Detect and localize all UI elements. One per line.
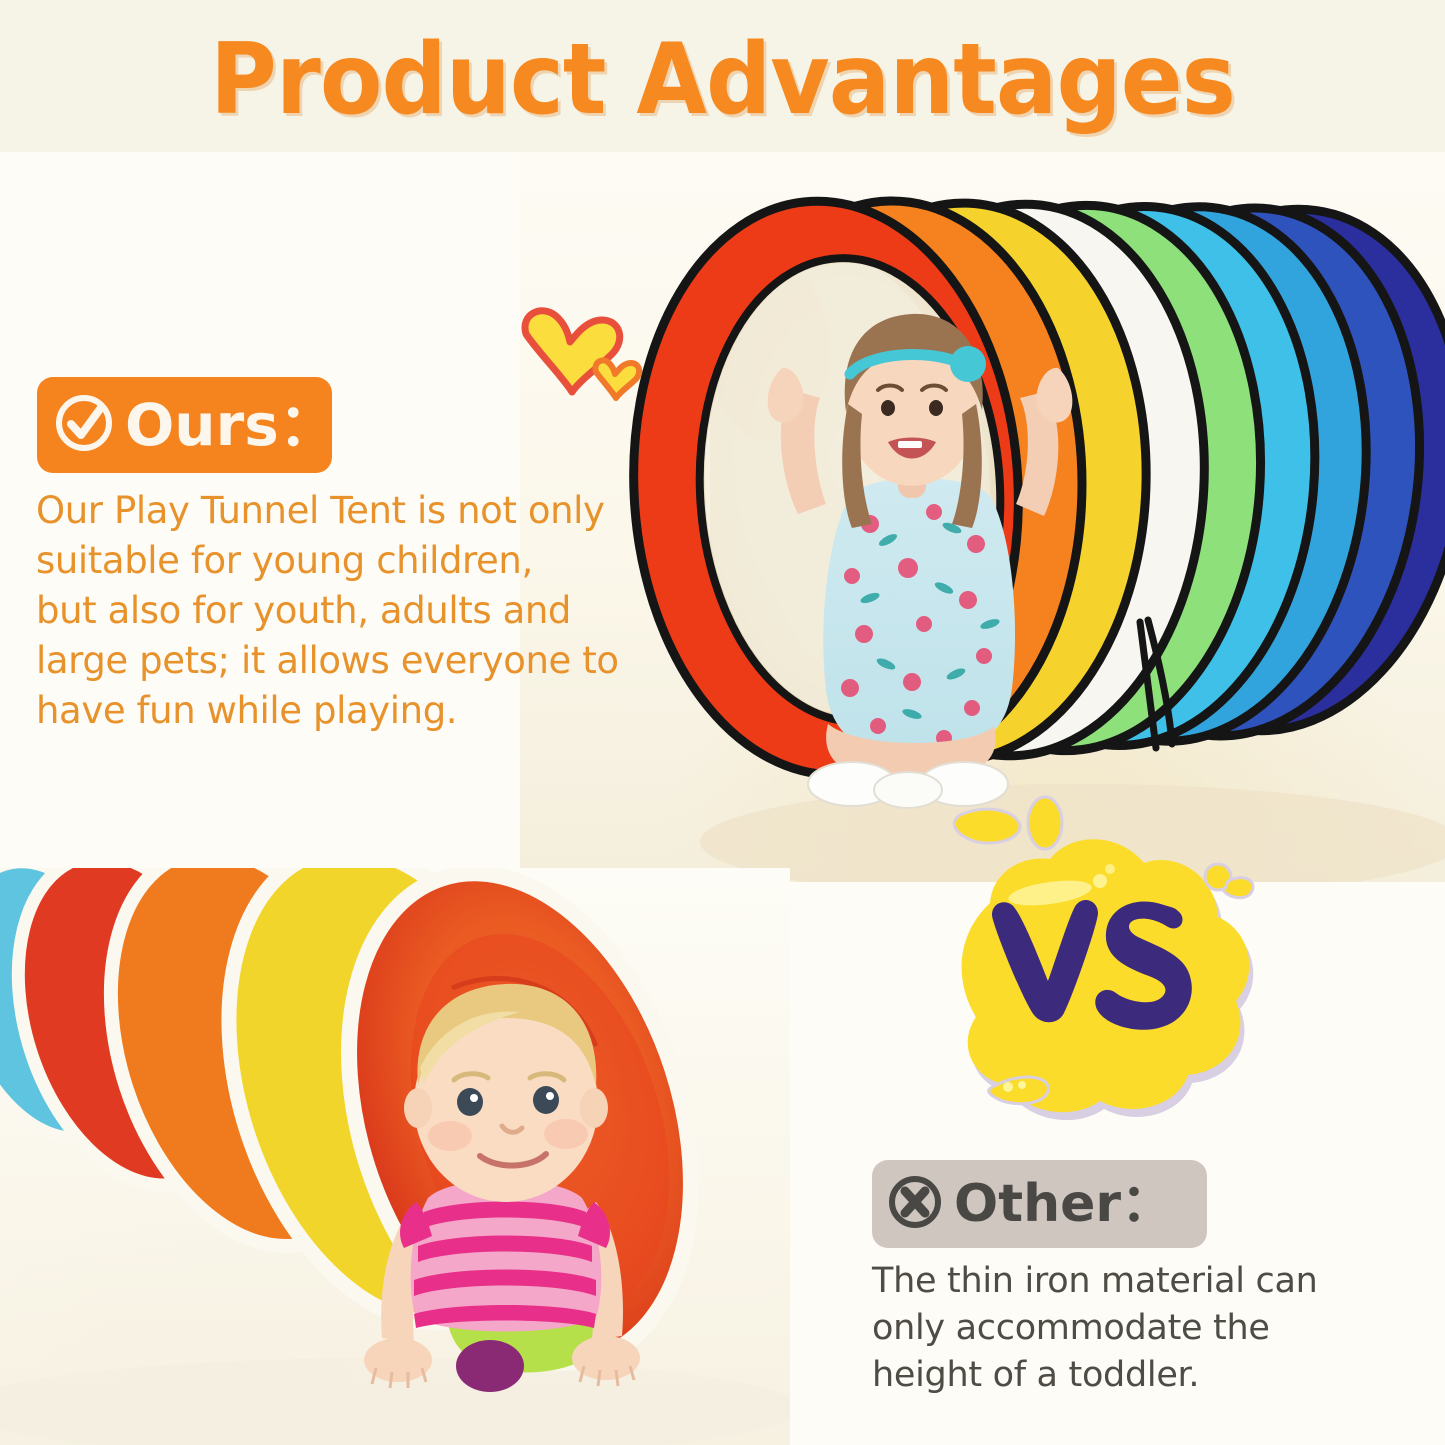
badge-other-label: Other： bbox=[954, 1175, 1173, 1233]
other-line-3: height of a toddler. bbox=[872, 1352, 1332, 1399]
badge-ours: Ours： bbox=[37, 377, 332, 473]
other-description: The thin iron material can only accommod… bbox=[872, 1258, 1332, 1399]
versus-badge: VS bbox=[930, 785, 1260, 1120]
photo-toddler-crawling-out-of-small-tunnel bbox=[0, 868, 790, 1445]
small-tunnel-svg bbox=[0, 868, 790, 1445]
rainbow-tunnel-svg bbox=[520, 152, 1445, 882]
ours-line-3: but also for youth, adults and bbox=[36, 586, 596, 636]
badge-other: Other： bbox=[872, 1160, 1207, 1248]
ours-line-4: large pets; it allows everyone to bbox=[36, 636, 596, 686]
ours-description: Our Play Tunnel Tent is not only suitabl… bbox=[36, 486, 596, 736]
circle-check-icon bbox=[53, 392, 115, 459]
other-line-2: only accommodate the bbox=[872, 1305, 1332, 1352]
circle-x-icon bbox=[886, 1173, 944, 1236]
rainbow-tunnel-graphic bbox=[520, 152, 1445, 882]
ours-line-5: have fun while playing. bbox=[36, 686, 596, 736]
heart-decoration bbox=[508, 300, 648, 410]
other-line-1: The thin iron material can bbox=[872, 1258, 1332, 1305]
versus-splat-icon bbox=[930, 785, 1260, 1120]
photo-girl-in-rainbow-play-tunnel bbox=[520, 152, 1445, 882]
ours-line-1: Our Play Tunnel Tent is not only bbox=[36, 486, 596, 536]
page-title: Product Advantages bbox=[51, 28, 1395, 132]
ours-line-2: suitable for young children, bbox=[36, 536, 596, 586]
badge-ours-label: Ours： bbox=[125, 396, 337, 454]
small-tunnel-stripes bbox=[0, 868, 750, 1407]
product-advantages-infographic: Product Advantages bbox=[0, 0, 1445, 1445]
